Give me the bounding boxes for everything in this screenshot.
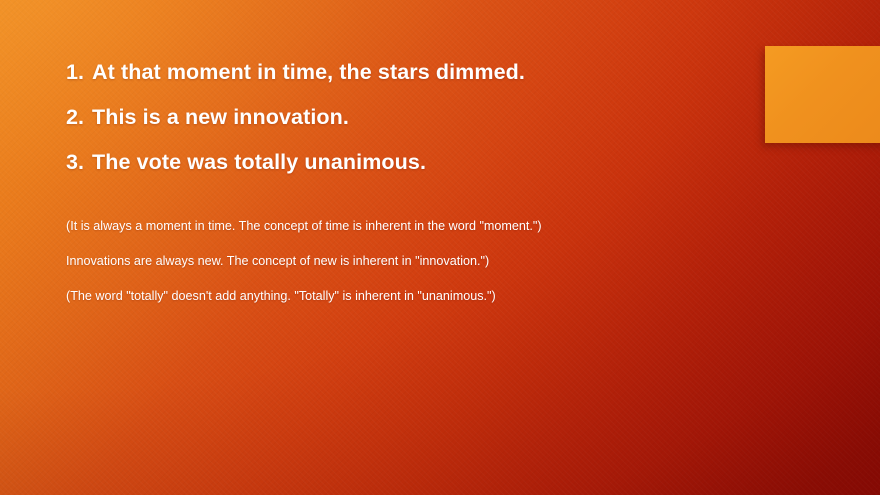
list-item-text: At that moment in time, the stars dimmed… <box>92 60 726 85</box>
presentation-slide: 1. At that moment in time, the stars dim… <box>0 0 880 495</box>
list-item-text: This is a new innovation. <box>92 105 726 130</box>
list-item: 1. At that moment in time, the stars dim… <box>66 60 726 85</box>
explanatory-notes: (It is always a moment in time. The conc… <box>66 219 806 325</box>
list-item-number: 2. <box>66 105 92 130</box>
list-item: 2. This is a new innovation. <box>66 105 726 130</box>
list-item-number: 3. <box>66 150 92 175</box>
note-line: (It is always a moment in time. The conc… <box>66 219 773 232</box>
note-line: Innovations are always new. The concept … <box>66 254 773 267</box>
numbered-list: 1. At that moment in time, the stars dim… <box>66 60 726 195</box>
list-item: 3. The vote was totally unanimous. <box>66 150 726 175</box>
list-item-number: 1. <box>66 60 92 85</box>
note-line: (The word "totally" doesn't add anything… <box>66 289 773 302</box>
list-item-text: The vote was totally unanimous. <box>92 150 726 175</box>
decorative-accent-rectangle <box>765 46 880 143</box>
